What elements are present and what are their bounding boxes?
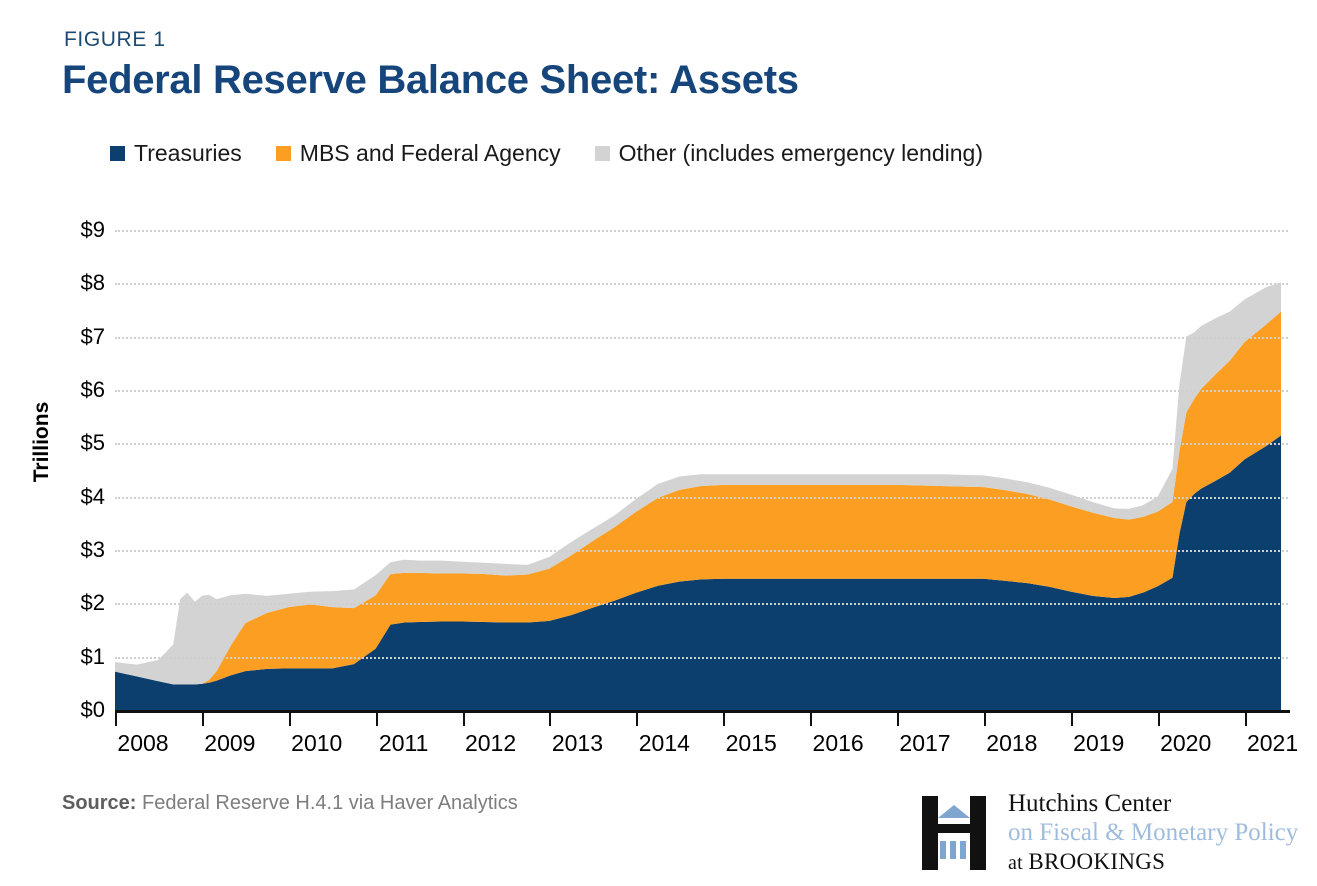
logo-wordmark: Hutchins Center on Fiscal & Monetary Pol… <box>1008 790 1298 875</box>
gridline <box>115 497 1288 499</box>
x-tick-label-2009: 2009 <box>204 730 255 757</box>
x-tick-label-2018: 2018 <box>986 730 1037 757</box>
y-tick-label-$1: $1 <box>45 644 105 670</box>
legend-item-mbs[interactable]: MBS and Federal Agency <box>276 140 561 167</box>
logo-line-1: Hutchins Center <box>1008 790 1298 819</box>
chart-plot-area <box>115 230 1288 710</box>
gridline <box>115 443 1288 445</box>
x-tick-2012 <box>463 713 465 726</box>
x-tick-2014 <box>636 713 638 726</box>
figure-page: FIGURE 1 Federal Reserve Balance Sheet: … <box>0 0 1317 886</box>
x-tick-2013 <box>549 713 551 726</box>
y-tick-label-$6: $6 <box>45 377 105 403</box>
gridline <box>115 603 1288 605</box>
y-axis-ticks: $0$1$2$3$4$5$6$7$8$9 <box>40 0 105 886</box>
logo-line-2: on Fiscal & Monetary Policy <box>1008 819 1298 848</box>
legend-label-other: Other (includes emergency lending) <box>619 140 983 167</box>
y-tick-label-$9: $9 <box>45 217 105 243</box>
y-tick-label-$0: $0 <box>45 697 105 723</box>
x-tick-2009 <box>202 713 204 726</box>
x-tick-label-2019: 2019 <box>1073 730 1124 757</box>
gridline <box>115 230 1288 232</box>
x-tick-2020 <box>1158 713 1160 726</box>
x-tick-label-2013: 2013 <box>552 730 603 757</box>
source-note: Source: Federal Reserve H.4.1 via Haver … <box>62 792 518 815</box>
y-tick-label-$2: $2 <box>45 590 105 616</box>
x-tick-label-2020: 2020 <box>1160 730 1211 757</box>
legend-item-other[interactable]: Other (includes emergency lending) <box>595 140 983 167</box>
x-tick-label-2011: 2011 <box>379 730 428 757</box>
x-tick-2010 <box>289 713 291 726</box>
y-tick-label-$5: $5 <box>45 430 105 456</box>
brookings-logo: Hutchins Center on Fiscal & Monetary Pol… <box>920 790 1298 875</box>
x-tick-2011 <box>376 713 378 726</box>
x-tick-label-2016: 2016 <box>813 730 864 757</box>
x-tick-label-2010: 2010 <box>291 730 342 757</box>
hutchins-h-icon <box>920 794 992 872</box>
gridline <box>115 337 1288 339</box>
gridline <box>115 390 1288 392</box>
logo-line-3: at BROOKINGS <box>1008 848 1298 876</box>
y-tick-label-$4: $4 <box>45 484 105 510</box>
gridline <box>115 657 1288 659</box>
y-tick-label-$3: $3 <box>45 537 105 563</box>
x-tick-2021 <box>1245 713 1247 726</box>
legend-item-treasuries[interactable]: Treasuries <box>110 140 242 167</box>
x-tick-label-2014: 2014 <box>639 730 690 757</box>
x-tick-2015 <box>723 713 725 726</box>
x-tick-label-2008: 2008 <box>117 730 168 757</box>
x-tick-2018 <box>984 713 986 726</box>
legend-swatch-other <box>595 146 610 161</box>
legend-label-treasuries: Treasuries <box>134 140 242 167</box>
x-axis-line <box>115 710 1290 713</box>
x-tick-2017 <box>897 713 899 726</box>
x-tick-2019 <box>1071 713 1073 726</box>
legend-label-mbs: MBS and Federal Agency <box>300 140 561 167</box>
legend-swatch-mbs <box>276 146 291 161</box>
x-tick-label-2017: 2017 <box>899 730 950 757</box>
chart-legend: Treasuries MBS and Federal Agency Other … <box>110 140 1017 167</box>
logo-line-3-pre: at <box>1008 852 1028 874</box>
y-tick-label-$8: $8 <box>45 270 105 296</box>
source-text: Federal Reserve H.4.1 via Haver Analytic… <box>142 792 518 814</box>
x-tick-label-2015: 2015 <box>726 730 777 757</box>
logo-line-3-main: BROOKINGS <box>1028 849 1165 874</box>
gridline <box>115 283 1288 285</box>
x-tick-label-2021: 2021 <box>1247 730 1298 757</box>
page-title: Federal Reserve Balance Sheet: Assets <box>62 58 799 103</box>
y-tick-label-$7: $7 <box>45 324 105 350</box>
gridline <box>115 550 1288 552</box>
x-tick-2016 <box>810 713 812 726</box>
legend-swatch-treasuries <box>110 146 125 161</box>
x-tick-2008 <box>115 713 117 726</box>
x-tick-label-2012: 2012 <box>465 730 516 757</box>
source-prefix: Source: <box>62 792 136 814</box>
stacked-area-chart <box>115 230 1288 710</box>
